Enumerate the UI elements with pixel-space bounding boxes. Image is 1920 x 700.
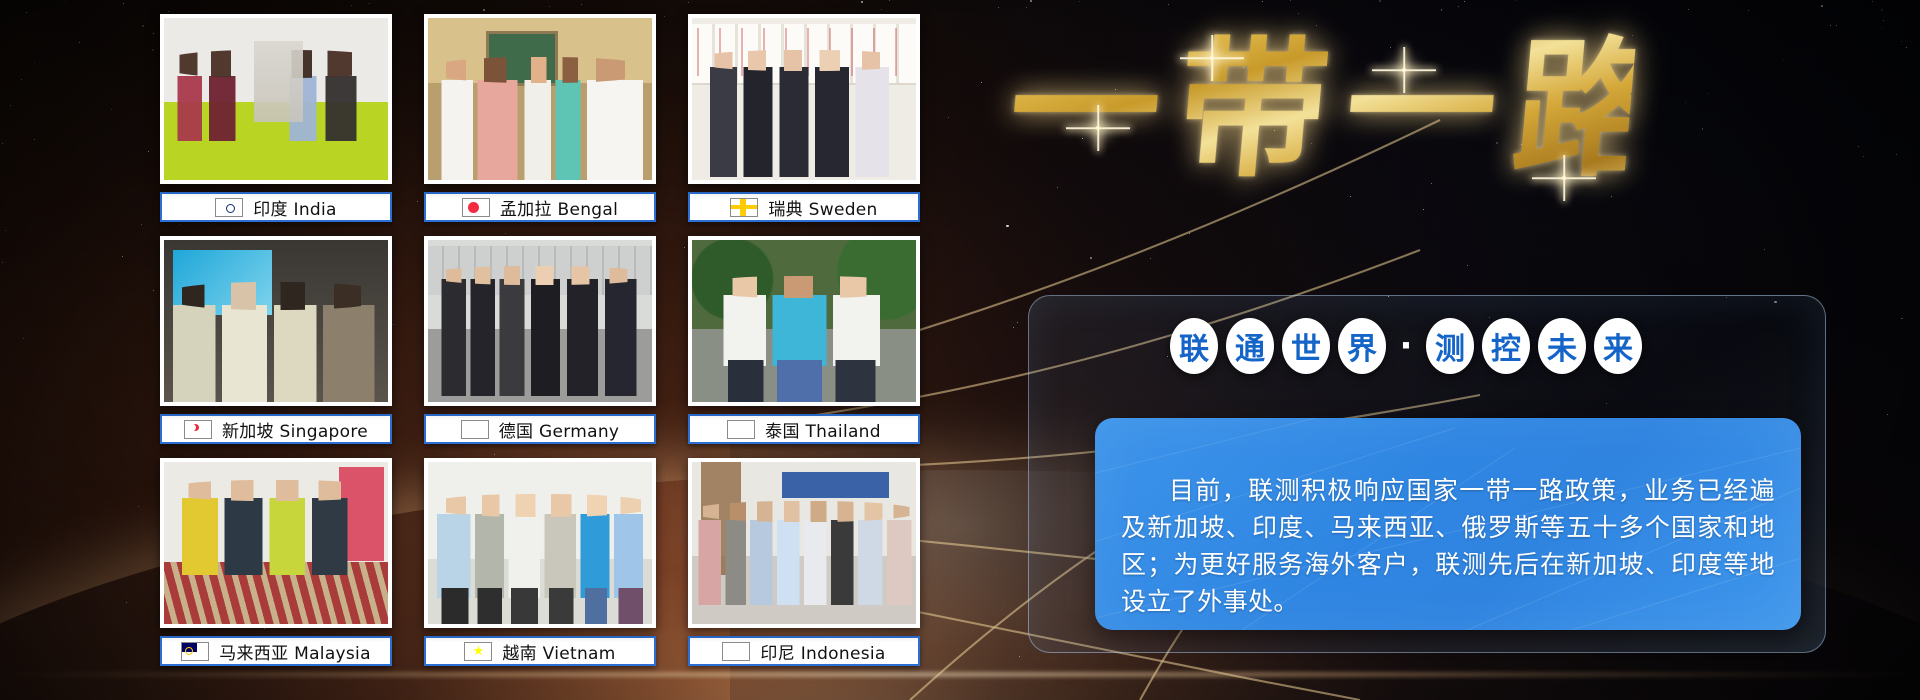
sparkle-icon [1210,56,1214,60]
slogan-char: 世 [1282,318,1330,374]
gallery-label-text: 瑞典 Sweden [768,195,877,220]
sparkle-icon [1096,126,1100,130]
photo-germany [424,236,656,406]
gallery-tile-malaysia[interactable]: 马来西亚 Malaysia [160,458,392,666]
gallery-tile-sweden[interactable]: 瑞典 Sweden [688,14,920,222]
country-photo-grid: 印度 India 孟加拉 Bengal [160,14,920,686]
description-text: 目前，联测积极响应国家一带一路政策，业务已经遍及新加坡、印度、马来西亚、俄罗斯等… [1095,418,1801,630]
slogan-char: 通 [1226,318,1274,374]
gallery-label-malaysia: 马来西亚 Malaysia [160,636,392,666]
gallery-label-text: 印度 India [253,195,337,220]
photo-sweden [688,14,920,184]
bengal-flag [462,198,490,217]
gallery-tile-indonesia[interactable]: 印尼 Indonesia [688,458,920,666]
gallery-label-text: 越南 Vietnam [502,639,615,664]
germany-flag [461,420,489,439]
singapore-flag [184,420,212,439]
gallery-tile-germany[interactable]: 德国 Germany [424,236,656,444]
photo-india [160,14,392,184]
gallery-tile-india[interactable]: 印度 India [160,14,392,222]
photo-singapore [160,236,392,406]
gallery-label-text: 印尼 Indonesia [760,639,885,664]
photo-malaysia [160,458,392,628]
gallery-label-bengal: 孟加拉 Bengal [424,192,656,222]
gallery-label-vietnam: 越南 Vietnam [424,636,656,666]
slogan-char: 测 [1426,318,1474,374]
gallery-label-india: 印度 India [160,192,392,222]
sweden-flag [730,198,758,217]
photo-thailand [688,236,920,406]
gallery-label-sweden: 瑞典 Sweden [688,192,920,222]
gallery-tile-thailand[interactable]: 泰国 Thailand [688,236,920,444]
gallery-tile-singapore[interactable]: 新加坡 Singapore [160,236,392,444]
description-paragraph-1: 目前，联测积极响应国家一带一路政策，业务已经遍及新加坡、印度、马来西亚、俄罗斯等… [1121,472,1775,620]
malaysia-flag [181,642,209,661]
gallery-label-text: 德国 Germany [499,417,620,442]
vietnam-flag [464,642,492,661]
gallery-tile-vietnam[interactable]: 越南 Vietnam [424,458,656,666]
gallery-label-text: 泰国 Thailand [765,417,881,442]
gallery-label-thailand: 泰国 Thailand [688,414,920,444]
gallery-label-text: 孟加拉 Bengal [500,195,618,220]
gallery-tile-bengal[interactable]: 孟加拉 Bengal [424,14,656,222]
gallery-label-germany: 德国 Germany [424,414,656,444]
photo-indonesia [688,458,920,628]
gallery-label-text: 新加坡 Singapore [222,417,368,442]
headline-belt-and-road: 一带一路 [1010,8,1630,223]
india-flag [215,198,243,217]
sparkle-icon [1402,68,1406,72]
gallery-label-singapore: 新加坡 Singapore [160,414,392,444]
photo-bengal [424,14,656,184]
slogan-char: 界 [1338,318,1386,374]
slogan-char: 控 [1482,318,1530,374]
photo-vietnam [424,458,656,628]
thailand-flag [727,420,755,439]
banner-stage: 印度 India 孟加拉 Bengal [0,0,1920,700]
gallery-label-text: 马来西亚 Malaysia [219,639,371,664]
gallery-label-indonesia: 印尼 Indonesia [688,636,920,666]
slogan-badges: 联 通 世 界 · 测 控 未 来 [1170,318,1642,374]
slogan-separator-dot: · [1394,318,1418,374]
sparkle-icon [1562,176,1566,180]
slogan-char: 未 [1538,318,1586,374]
slogan-char: 联 [1170,318,1218,374]
indonesia-flag [722,642,750,661]
description-box: 目前，联测积极响应国家一带一路政策，业务已经遍及新加坡、印度、马来西亚、俄罗斯等… [1095,418,1801,630]
slogan-char: 来 [1594,318,1642,374]
